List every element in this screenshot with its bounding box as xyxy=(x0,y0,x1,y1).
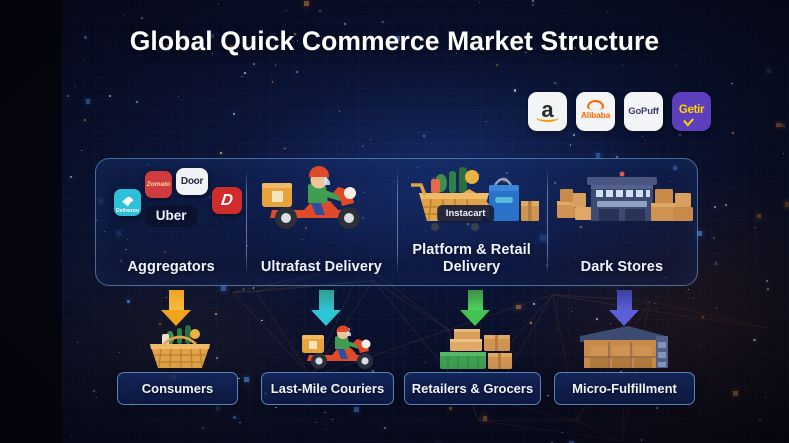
amazon-smile-icon xyxy=(536,113,559,122)
doordash-label: Door xyxy=(181,176,203,187)
doordash-app-icon[interactable]: Door xyxy=(176,168,208,195)
amazon-logo-badge[interactable]: a xyxy=(528,92,567,131)
arrow-couriers xyxy=(311,290,341,326)
arrow-microfulfillment xyxy=(609,290,639,326)
outcome-pill-last-mile-couriers[interactable]: Last-Mile Couriers xyxy=(261,372,394,405)
outcome-pill-consumers[interactable]: Consumers xyxy=(117,372,238,405)
stacked-crates-illustration xyxy=(432,325,532,378)
outcome-label-micro-fulfillment: Micro-Fulfillment xyxy=(572,381,677,396)
outcome-label-retailers-grocers: Retailers & Grocers xyxy=(412,381,533,396)
panel-column-dark-stores[interactable]: Dark Stores xyxy=(547,159,697,285)
getir-wordmark: Getir xyxy=(679,104,704,116)
grocery-basket-illustration xyxy=(140,322,218,377)
arrow-consumers xyxy=(161,290,191,326)
getir-logo-badge[interactable]: Getir xyxy=(672,92,711,131)
getir-tick-icon xyxy=(683,115,694,127)
zomato-app-icon[interactable]: Zomato xyxy=(145,171,172,198)
panel-label-aggregators: Aggregators xyxy=(127,259,214,276)
dark-store-illustration xyxy=(547,163,697,229)
outcome-label-last-mile-couriers: Last-Mile Couriers xyxy=(271,381,384,396)
deliveroo-bird-icon xyxy=(121,196,134,207)
panel-column-platform-retail[interactable]: Instacart Platform & Retail Delivery xyxy=(397,159,547,285)
scooter-courier-illustration xyxy=(246,163,396,229)
deliveroo-label: Deliveroo xyxy=(116,209,139,214)
gopuff-wordmark: GoPuff xyxy=(628,106,658,117)
arrow-retailers xyxy=(460,290,490,326)
outcome-pill-micro-fulfillment[interactable]: Micro-Fulfillment xyxy=(554,372,695,405)
panel-column-aggregators[interactable]: Deliveroo Zomato Door D Uber Aggregators xyxy=(96,159,246,285)
panel-label-dark-stores: Dark Stores xyxy=(581,259,664,276)
delivery-hero-app-icon[interactable]: D xyxy=(212,187,242,214)
alibaba-mark-icon xyxy=(587,100,604,110)
gopuff-logo-badge[interactable]: GoPuff xyxy=(624,92,663,131)
outcome-pill-retailers-grocers[interactable]: Retailers & Grocers xyxy=(404,372,541,405)
deliveroo-app-icon[interactable]: Deliveroo xyxy=(114,189,141,216)
warehouse-illustration xyxy=(576,322,672,377)
zomato-label: Zomato xyxy=(147,181,170,188)
scooter-courier-illustration-bottom xyxy=(290,323,398,378)
outcome-label-consumers: Consumers xyxy=(142,381,214,396)
brand-logo-row: a Alibaba GoPuff Getir xyxy=(528,92,711,131)
panel-label-platform-retail: Platform & Retail Delivery xyxy=(397,242,547,276)
instacart-chip[interactable]: Instacart xyxy=(437,205,495,223)
panel-label-ultrafast-delivery: Ultrafast Delivery xyxy=(261,259,382,276)
page-title: Global Quick Commerce Market Structure xyxy=(0,26,789,57)
market-structure-panel: Deliveroo Zomato Door D Uber Aggregators xyxy=(95,158,698,286)
infographic-canvas: Global Quick Commerce Market Structure a… xyxy=(0,0,789,443)
panel-column-ultrafast-delivery[interactable]: Ultrafast Delivery xyxy=(246,159,396,285)
alibaba-logo-badge[interactable]: Alibaba xyxy=(576,92,615,131)
alibaba-wordmark: Alibaba xyxy=(581,110,610,120)
delivery-hero-label: D xyxy=(220,193,234,209)
uber-chip[interactable]: Uber xyxy=(145,205,198,227)
